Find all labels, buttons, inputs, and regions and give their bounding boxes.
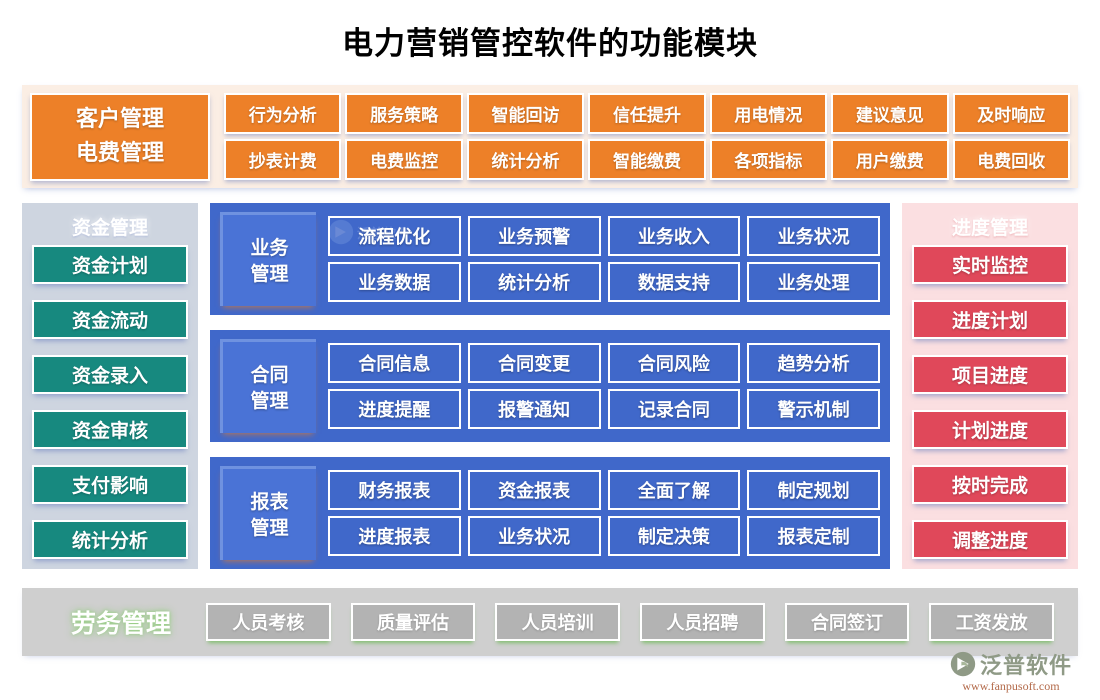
category-tile-line1: 客户管理 [76, 103, 164, 137]
billing-management-row: 抄表计费 电费监控 统计分析 智能缴费 各项指标 用户缴费 电费回收 [224, 139, 1070, 180]
customer-billing-grid: 行为分析 服务策略 智能回访 信任提升 用电情况 建议意见 及时响应 抄表计费 … [224, 93, 1070, 180]
brand-row: 泛普软件 [936, 648, 1086, 680]
progress-management-items: 实时监控 进度计划 项目进度 计划进度 按时完成 调整进度 [912, 243, 1068, 559]
module-tile[interactable]: 电费监控 [345, 139, 462, 180]
category-tile-customer-billing[interactable]: 客户管理 电费管理 [30, 93, 210, 181]
labor-item[interactable]: 工资发放 [929, 603, 1054, 641]
labor-item[interactable]: 质量评估 [351, 603, 476, 641]
panel-cell[interactable]: 业务处理 [747, 262, 880, 302]
footer-brand-logo: 泛普软件 www.fanpusoft.com [936, 648, 1086, 694]
panel-cell[interactable]: 业务数据 [328, 262, 461, 302]
module-tile[interactable]: 及时响应 [953, 93, 1070, 134]
labor-item[interactable]: 人员培训 [495, 603, 620, 641]
module-tile[interactable]: 行为分析 [224, 93, 341, 134]
sidebar-item-progress[interactable]: 实时监控 [912, 245, 1068, 284]
middle-area: 资金管理 资金计划 资金流动 资金录入 资金审核 支付影响 统计分析 业务 管理… [22, 203, 1078, 569]
fund-management-header: 资金管理 [32, 209, 188, 243]
module-tile[interactable]: 电费回收 [953, 139, 1070, 180]
labor-item[interactable]: 人员考核 [206, 603, 331, 641]
sidebar-item-progress[interactable]: 进度计划 [912, 300, 1068, 339]
sidebar-item-progress[interactable]: 计划进度 [912, 410, 1068, 449]
module-tile[interactable]: 智能回访 [467, 93, 584, 134]
fanpu-logo-icon [950, 651, 976, 677]
sidebar-item-progress[interactable]: 按时完成 [912, 465, 1068, 504]
panel-cell[interactable]: 资金报表 [468, 470, 601, 510]
panel-label-business[interactable]: 业务 管理 [220, 212, 316, 306]
sidebar-item-progress[interactable]: 调整进度 [912, 520, 1068, 559]
module-tile[interactable]: 服务策略 [345, 93, 462, 134]
contract-row-2: 进度提醒 报警通知 记录合同 警示机制 [328, 389, 880, 429]
panel-cell[interactable]: 全面了解 [608, 470, 741, 510]
report-management-panel: 报表 管理 财务报表 资金报表 全面了解 制定规划 进度报表 业务状况 制定决策… [210, 457, 890, 569]
labor-management-label: 劳务管理 [36, 604, 206, 640]
labor-item[interactable]: 合同签订 [785, 603, 910, 641]
brand-name: 泛普软件 [980, 648, 1072, 680]
panel-cell[interactable]: 合同信息 [328, 343, 461, 383]
report-row-1: 财务报表 资金报表 全面了解 制定规划 [328, 470, 880, 510]
panel-cell[interactable]: 报警通知 [468, 389, 601, 429]
panel-cell[interactable]: 数据支持 [608, 262, 741, 302]
panel-cell[interactable]: 财务报表 [328, 470, 461, 510]
panel-cell[interactable]: 进度报表 [328, 516, 461, 556]
report-row-2: 进度报表 业务状况 制定决策 报表定制 [328, 516, 880, 556]
panel-cell[interactable]: 流程优化 [328, 216, 461, 256]
panel-cell[interactable]: 制定决策 [608, 516, 741, 556]
module-tile[interactable]: 信任提升 [588, 93, 705, 134]
panel-cell[interactable]: 记录合同 [608, 389, 741, 429]
panel-label-report[interactable]: 报表 管理 [220, 466, 316, 560]
module-tile[interactable]: 用电情况 [710, 93, 827, 134]
sidebar-item-fund[interactable]: 支付影响 [32, 465, 188, 504]
report-grid: 财务报表 资金报表 全面了解 制定规划 进度报表 业务状况 制定决策 报表定制 [328, 470, 880, 556]
panel-cell[interactable]: 统计分析 [468, 262, 601, 302]
customer-management-row: 行为分析 服务策略 智能回访 信任提升 用电情况 建议意见 及时响应 [224, 93, 1070, 134]
sidebar-item-fund[interactable]: 资金流动 [32, 300, 188, 339]
module-tile[interactable]: 各项指标 [710, 139, 827, 180]
page-title: 电力营销管控软件的功能模块 [0, 0, 1100, 74]
panel-cell[interactable]: 合同风险 [608, 343, 741, 383]
contract-grid: 合同信息 合同变更 合同风险 趋势分析 进度提醒 报警通知 记录合同 警示机制 [328, 343, 880, 429]
sidebar-item-fund[interactable]: 资金审核 [32, 410, 188, 449]
panel-cell[interactable]: 业务预警 [468, 216, 601, 256]
panel-cell[interactable]: 报表定制 [747, 516, 880, 556]
panel-cell[interactable]: 趋势分析 [747, 343, 880, 383]
sidebar-item-progress[interactable]: 项目进度 [912, 355, 1068, 394]
module-tile[interactable]: 建议意见 [831, 93, 948, 134]
progress-management-header: 进度管理 [912, 209, 1068, 243]
labor-item[interactable]: 人员招聘 [640, 603, 765, 641]
panel-label-line1: 报表 [250, 489, 288, 515]
panel-label-contract[interactable]: 合同 管理 [220, 339, 316, 433]
labor-management-items: 人员考核 质量评估 人员培训 人员招聘 合同签订 工资发放 [206, 603, 1064, 641]
panel-cell[interactable]: 合同变更 [468, 343, 601, 383]
sidebar-item-fund[interactable]: 资金录入 [32, 355, 188, 394]
module-tile[interactable]: 抄表计费 [224, 139, 341, 180]
contract-management-panel: 合同 管理 合同信息 合同变更 合同风险 趋势分析 进度提醒 报警通知 记录合同… [210, 330, 890, 442]
fund-management-sidebar: 资金管理 资金计划 资金流动 资金录入 资金审核 支付影响 统计分析 [22, 203, 198, 569]
panel-label-line1: 业务 [250, 235, 288, 261]
category-tile-line2: 电费管理 [76, 137, 164, 171]
progress-management-sidebar: 进度管理 实时监控 进度计划 项目进度 计划进度 按时完成 调整进度 [902, 203, 1078, 569]
business-row-2: 业务数据 统计分析 数据支持 业务处理 [328, 262, 880, 302]
module-tile[interactable]: 用户缴费 [831, 139, 948, 180]
labor-management-bar: 劳务管理 人员考核 质量评估 人员培训 人员招聘 合同签订 工资发放 [22, 588, 1078, 656]
business-row-1: 流程优化 业务预警 业务收入 业务状况 [328, 216, 880, 256]
panel-cell[interactable]: 业务状况 [747, 216, 880, 256]
panel-label-line2: 管理 [250, 388, 288, 414]
brand-url: www.fanpusoft.com [936, 679, 1086, 694]
business-management-panel: 业务 管理 泛普软件 流程优化 业务预警 业务收入 业务状况 业务数据 [210, 203, 890, 315]
panel-label-line2: 管理 [250, 515, 288, 541]
panel-label-line2: 管理 [250, 261, 288, 287]
panel-label-line1: 合同 [250, 362, 288, 388]
panel-cell[interactable]: 进度提醒 [328, 389, 461, 429]
panel-cell[interactable]: 制定规划 [747, 470, 880, 510]
sidebar-item-fund[interactable]: 资金计划 [32, 245, 188, 284]
panel-cell[interactable]: 业务收入 [608, 216, 741, 256]
panel-cell[interactable]: 业务状况 [468, 516, 601, 556]
center-panels: 业务 管理 泛普软件 流程优化 业务预警 业务收入 业务状况 业务数据 [210, 203, 890, 569]
module-tile[interactable]: 统计分析 [467, 139, 584, 180]
customer-billing-section: 客户管理 电费管理 行为分析 服务策略 智能回访 信任提升 用电情况 建议意见 … [22, 85, 1078, 188]
contract-row-1: 合同信息 合同变更 合同风险 趋势分析 [328, 343, 880, 383]
fund-management-items: 资金计划 资金流动 资金录入 资金审核 支付影响 统计分析 [32, 243, 188, 559]
module-tile[interactable]: 智能缴费 [588, 139, 705, 180]
business-grid: 流程优化 业务预警 业务收入 业务状况 业务数据 统计分析 数据支持 业务处理 [328, 216, 880, 302]
sidebar-item-fund[interactable]: 统计分析 [32, 520, 188, 559]
panel-cell[interactable]: 警示机制 [747, 389, 880, 429]
